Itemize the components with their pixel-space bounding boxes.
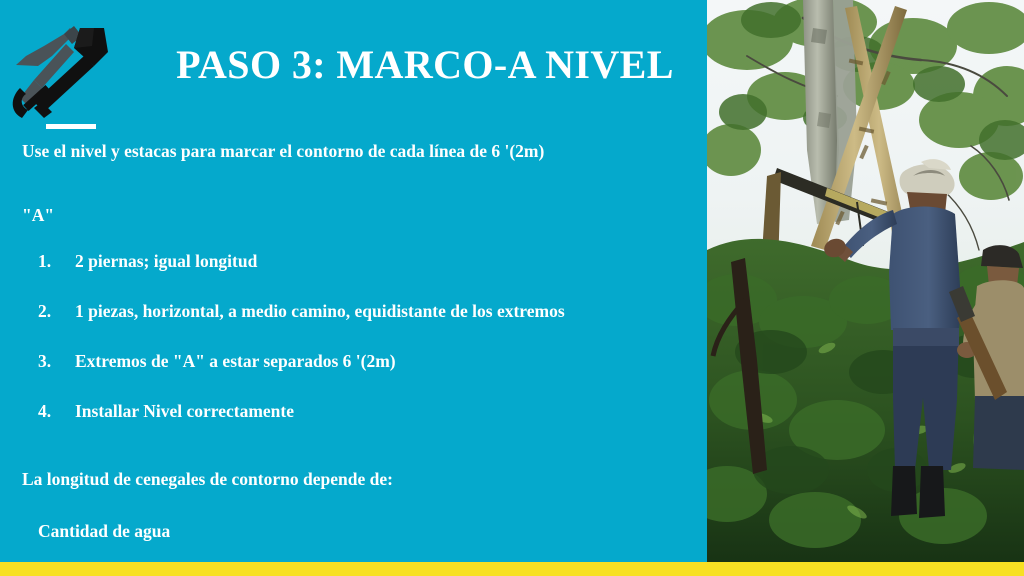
list-item: 2. 1 piezas, horizontal, a medio camino,…: [0, 300, 707, 350]
page-title: PASO 3: MARCO-A NIVEL: [150, 40, 700, 90]
content-panel: PASO 3: MARCO-A NIVEL Use el nivel y est…: [0, 0, 707, 562]
depends-heading: La longitud de cenegales de contorno dep…: [22, 468, 393, 490]
list-item-marker: 4.: [38, 400, 66, 422]
list-item-text: 1 piezas, horizontal, a medio camino, eq…: [75, 300, 565, 322]
body-copy: Use el nivel y estacas para marcar el co…: [0, 138, 707, 558]
list-item-text: Extremos de "A" a estar separados 6 '(2m…: [75, 350, 396, 372]
slide: PASO 3: MARCO-A NIVEL Use el nivel y est…: [0, 0, 1024, 576]
lead-instruction: Use el nivel y estacas para marcar el co…: [22, 140, 544, 162]
title-underline-rule: [46, 124, 96, 129]
pickaxe-and-shovel-icon: [8, 22, 116, 120]
bottom-accent-bar: [0, 562, 1024, 576]
list-item-text: 2 piernas; igual longitud: [75, 250, 257, 272]
list-item-marker: 1.: [38, 250, 66, 272]
list-item: 3. Extremos de "A" a estar separados 6 '…: [0, 350, 707, 400]
list-item-marker: 2.: [38, 300, 66, 322]
list-item-text: Installar Nivel correctamente: [75, 400, 294, 422]
list-item: 1. 2 piernas; igual longitud: [0, 250, 707, 300]
frame-label: "A": [22, 204, 54, 226]
field-photo: [707, 0, 1024, 562]
depends-item: Cantidad de agua: [38, 520, 170, 542]
numbered-list: 1. 2 piernas; igual longitud 2. 1 piezas…: [0, 250, 707, 450]
list-item: 4. Installar Nivel correctamente: [0, 400, 707, 450]
list-item-marker: 3.: [38, 350, 66, 372]
